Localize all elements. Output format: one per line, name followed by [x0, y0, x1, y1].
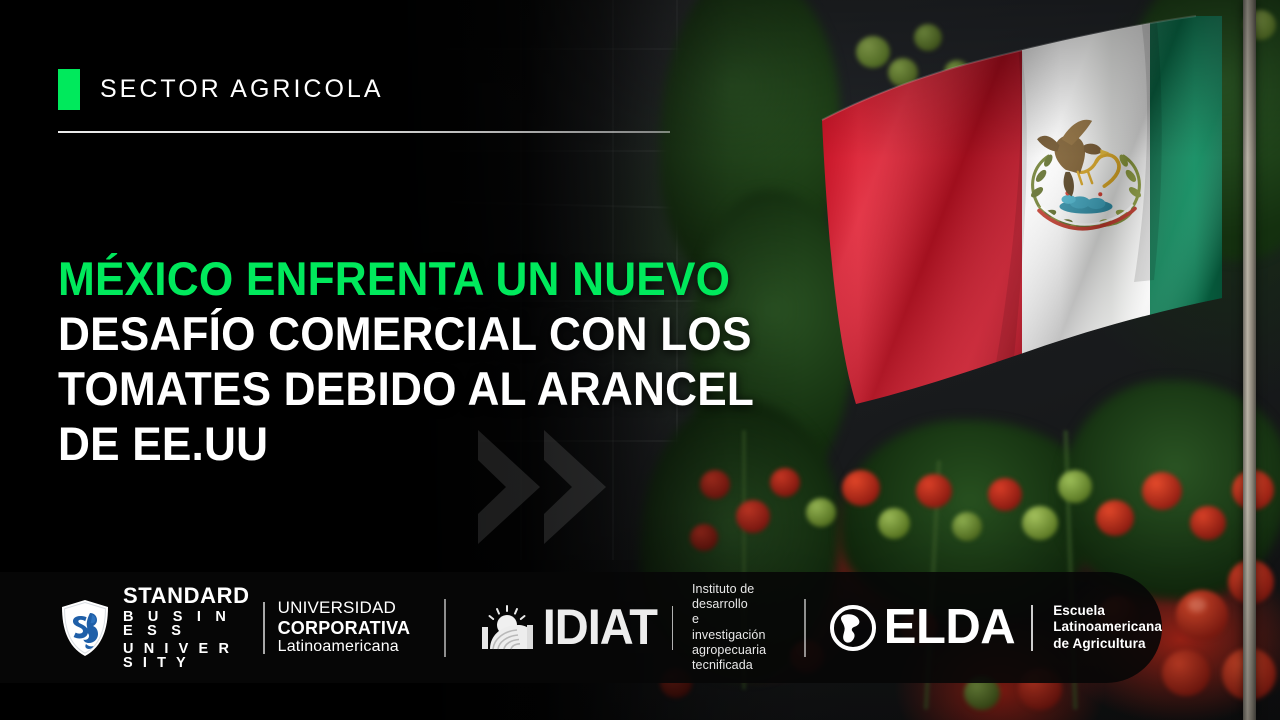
footer-separator	[804, 599, 806, 657]
idiat-tagline-line-3: tecnificada	[692, 658, 774, 673]
footer-logo-bar: STANDARD B U S I N E S S U N I V E R S I…	[0, 572, 1162, 683]
headline-line-4: DE EE.UU	[58, 416, 772, 471]
headline-line-1: MÉXICO ENFRENTA UN NUEVO	[58, 251, 772, 306]
idiat-tagline: Instituto de desarrollo e investigación …	[692, 582, 774, 674]
eyebrow-label: SECTOR AGRICOLA	[100, 75, 384, 104]
sbu-tagline: UNIVERSIDAD CORPORATIVA Latinoamericana	[278, 598, 411, 656]
logo-idiat[interactable]: IDIAT Instituto de desarrollo e investig…	[480, 582, 775, 674]
eyebrow: SECTOR AGRICOLA	[58, 69, 384, 110]
globe-americas-icon	[830, 605, 876, 651]
elda-logo-divider	[1031, 605, 1033, 651]
elda-tagline-line-3: de Agricultura	[1053, 636, 1162, 652]
logo-standard-business-university[interactable]: STANDARD B U S I N E S S U N I V E R S I…	[60, 585, 410, 671]
sbu-wordmark: STANDARD B U S I N E S S U N I V E R S I…	[123, 585, 250, 671]
green-square-marker-icon	[58, 69, 80, 110]
headline-line-2: DESAFÍO COMERCIAL CON LOS	[58, 306, 772, 361]
logo-elda[interactable]: ELDA Escuela Latinoamericana de Agricult…	[830, 603, 1162, 652]
idiat-wordmark: IDIAT	[543, 604, 657, 651]
elda-wordmark: ELDA	[884, 604, 1015, 651]
sbu-tagline-line-1: UNIVERSIDAD	[278, 598, 411, 617]
sun-over-fields-icon	[480, 605, 534, 651]
idiat-logo-divider	[672, 606, 673, 650]
elda-tagline-line-1: Escuela	[1053, 603, 1162, 619]
idiat-tagline-line-2: e investigación agropecuaria	[692, 612, 774, 658]
sbu-name-line-1: STANDARD	[123, 585, 250, 607]
elda-tagline-line-2: Latinoamericana	[1053, 619, 1162, 635]
social-media-news-card: SECTOR AGRICOLA MÉXICO ENFRENTA UN NUEVO…	[0, 0, 1280, 720]
headline-line-3: TOMATES DEBIDO AL ARANCEL	[58, 361, 772, 416]
sbu-tagline-line-3: Latinoamericana	[278, 638, 411, 656]
idiat-tagline-line-1: Instituto de desarrollo	[692, 582, 774, 613]
footer-separator	[444, 599, 446, 657]
headline: MÉXICO ENFRENTA UN NUEVO DESAFÍO COMERCI…	[58, 251, 818, 471]
header-divider-rule	[58, 131, 670, 133]
shield-with-lion-icon	[60, 599, 110, 657]
sbu-logo-divider	[263, 602, 264, 654]
sbu-name-line-3: U N I V E R S I T Y	[123, 642, 250, 671]
sbu-tagline-line-2: CORPORATIVA	[278, 618, 411, 639]
elda-tagline: Escuela Latinoamericana de Agricultura	[1053, 603, 1162, 652]
sbu-name-line-2: B U S I N E S S	[123, 610, 250, 639]
